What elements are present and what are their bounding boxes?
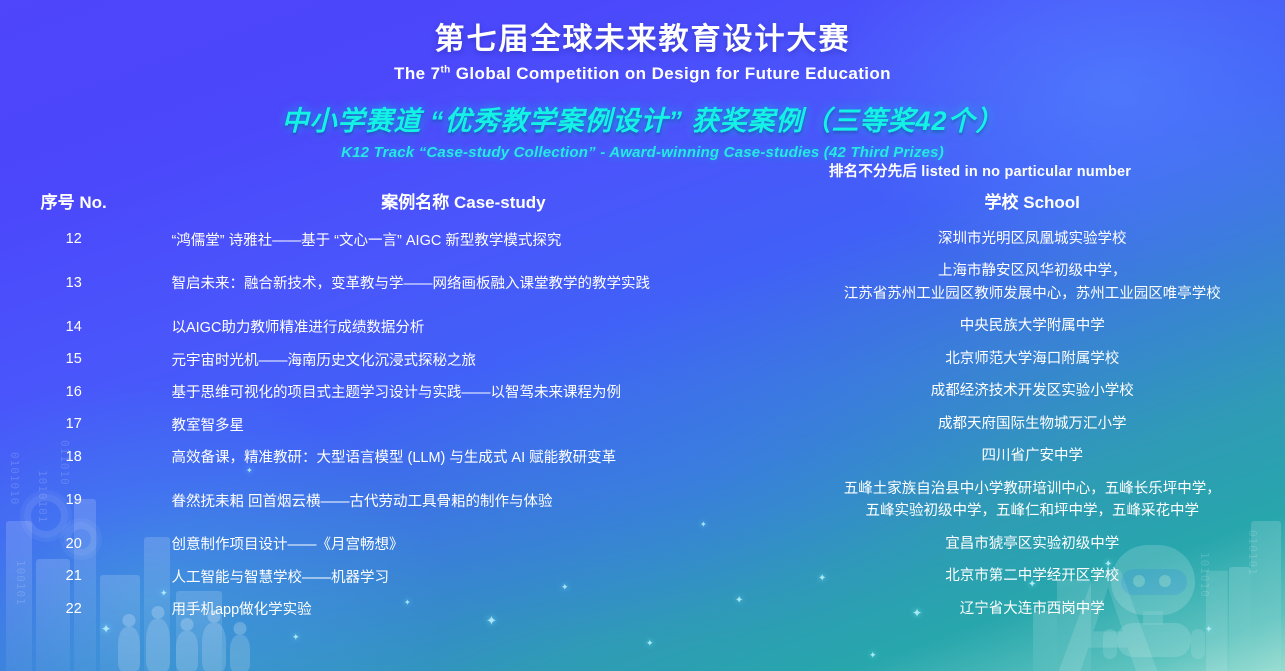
poster-canvas: 0101010 1010101 011010 100101 010101 101… — [0, 0, 1285, 671]
poster-header: 第七届全球未来教育设计大赛 The 7th Global Competition… — [0, 0, 1285, 161]
cell-no: 13 — [0, 255, 147, 310]
school-line: 上海市静安区风华初级中学， — [779, 260, 1285, 282]
school-line: 北京市第二中学经开区学校 — [779, 565, 1285, 587]
cell-school: 上海市静安区风华初级中学，江苏省苏州工业园区教师发展中心，苏州工业园区唯亭学校 — [779, 255, 1285, 310]
sparkle-icon: ✦ — [292, 632, 300, 642]
person-silhouette — [230, 635, 250, 671]
table-body: 12“鸿儒堂” 诗雅社——基于 “文心一言” AIGC 新型教学模式探究深圳市光… — [0, 223, 1285, 625]
page-title-en-before: The 7 — [394, 64, 440, 83]
person-silhouette — [118, 627, 140, 671]
cell-case-study: 创意制作项目设计——《月宫畅想》 — [147, 528, 779, 560]
cell-case-study: 以AIGC助力教师精准进行成绩数据分析 — [147, 310, 779, 342]
table-row: 16基于思维可视化的项目式主题学习设计与实践——以智驾未来课程为例成都经济技术开… — [0, 375, 1285, 407]
table-row: 18高效备课，精准教研：大型语言模型 (LLM) 与生成式 AI 赋能教研变革四… — [0, 440, 1285, 472]
school-line: 北京师范大学海口附属学校 — [779, 348, 1285, 370]
school-line: 江苏省苏州工业园区教师发展中心，苏州工业园区唯亭学校 — [779, 283, 1285, 305]
school-line: 辽宁省大连市西岗中学 — [779, 598, 1285, 620]
table-row: 21人工智能与智慧学校——机器学习北京市第二中学经开区学校 — [0, 560, 1285, 592]
person-silhouette — [202, 623, 226, 671]
cell-school: 中央民族大学附属中学 — [779, 310, 1285, 342]
cell-case-study: 高效备课，精准教研：大型语言模型 (LLM) 与生成式 AI 赋能教研变革 — [147, 440, 779, 472]
cell-case-study: 元宇宙时光机——海南历史文化沉浸式探秘之旅 — [147, 343, 779, 375]
cell-school: 宜昌市猇亭区实验初级中学 — [779, 528, 1285, 560]
page-title-en: The 7th Global Competition on Design for… — [0, 64, 1285, 84]
cell-school: 成都天府国际生物城万汇小学 — [779, 408, 1285, 440]
page-title-en-after: Global Competition on Design for Future … — [451, 64, 891, 83]
cell-no: 19 — [0, 473, 147, 528]
table-row: 22用手机app做化学实验辽宁省大连市西岗中学 — [0, 593, 1285, 625]
school-line: 成都天府国际生物城万汇小学 — [779, 413, 1285, 435]
cell-school: 北京市第二中学经开区学校 — [779, 560, 1285, 592]
cell-no: 20 — [0, 528, 147, 560]
cell-school: 五峰土家族自治县中小学教研培训中心，五峰长乐坪中学，五峰实验初级中学，五峰仁和坪… — [779, 473, 1285, 528]
school-line: 四川省广安中学 — [779, 445, 1285, 467]
table-row: 14以AIGC助力教师精准进行成绩数据分析中央民族大学附属中学 — [0, 310, 1285, 342]
table-row: 15元宇宙时光机——海南历史文化沉浸式探秘之旅北京师范大学海口附属学校 — [0, 343, 1285, 375]
table-row: 17教室智多星成都天府国际生物城万汇小学 — [0, 408, 1285, 440]
school-line: 中央民族大学附属中学 — [779, 315, 1285, 337]
cell-no: 17 — [0, 408, 147, 440]
cell-school: 成都经济技术开发区实验小学校 — [779, 375, 1285, 407]
cell-no: 15 — [0, 343, 147, 375]
school-line: 成都经济技术开发区实验小学校 — [779, 380, 1285, 402]
cell-no: 21 — [0, 560, 147, 592]
school-line: 五峰实验初级中学，五峰仁和坪中学，五峰采花中学 — [779, 500, 1285, 522]
cell-school: 辽宁省大连市西岗中学 — [779, 593, 1285, 625]
award-table: 序号 No. 案例名称 Case-study 学校 School 12“鸿儒堂”… — [0, 186, 1285, 625]
cell-school: 四川省广安中学 — [779, 440, 1285, 472]
sparkle-icon: ✦ — [646, 638, 654, 648]
cell-case-study: 智启未来：融合新技术，变革教与学——网络画板融入课堂教学的教学实践 — [147, 255, 779, 310]
cell-case-study: 教室智多星 — [147, 408, 779, 440]
cell-no: 16 — [0, 375, 147, 407]
table-row: 12“鸿儒堂” 诗雅社——基于 “文心一言” AIGC 新型教学模式探究深圳市光… — [0, 223, 1285, 255]
person-silhouette — [176, 631, 198, 671]
person-silhouette — [146, 619, 170, 671]
cell-no: 14 — [0, 310, 147, 342]
column-header-no: 序号 No. — [0, 186, 147, 223]
ordinal-suffix: th — [440, 64, 450, 75]
cell-case-study: 人工智能与智慧学校——机器学习 — [147, 560, 779, 592]
table-row: 19眷然抚耒耜 回首烟云横——古代劳动工具骨耜的制作与体验五峰土家族自治县中小学… — [0, 473, 1285, 528]
cell-no: 18 — [0, 440, 147, 472]
cell-no: 12 — [0, 223, 147, 255]
school-line: 五峰土家族自治县中小学教研培训中心，五峰长乐坪中学， — [779, 478, 1285, 500]
school-line: 深圳市光明区凤凰城实验学校 — [779, 228, 1285, 250]
cell-no: 22 — [0, 593, 147, 625]
sparkle-icon: ✦ — [101, 624, 111, 634]
subtitle-cn: 中小学赛道 “优秀教学案例设计” 获奖案例（三等奖42个） — [0, 99, 1285, 138]
sparkle-icon: ✦ — [1205, 624, 1213, 634]
table-row: 13智启未来：融合新技术，变革教与学——网络画板融入课堂教学的教学实践上海市静安… — [0, 255, 1285, 310]
cell-school: 深圳市光明区凤凰城实验学校 — [779, 223, 1285, 255]
page-title-cn: 第七届全球未来教育设计大赛 — [0, 14, 1285, 58]
cell-school: 北京师范大学海口附属学校 — [779, 343, 1285, 375]
cell-case-study: 基于思维可视化的项目式主题学习设计与实践——以智驾未来课程为例 — [147, 375, 779, 407]
cell-case-study: “鸿儒堂” 诗雅社——基于 “文心一言” AIGC 新型教学模式探究 — [147, 223, 779, 255]
column-header-case: 案例名称 Case-study — [147, 186, 779, 223]
ranking-note: 排名不分先后 listed in no particular number — [700, 160, 1260, 181]
school-line: 宜昌市猇亭区实验初级中学 — [779, 533, 1285, 555]
table-header-row: 序号 No. 案例名称 Case-study 学校 School — [0, 186, 1285, 223]
table-header: 序号 No. 案例名称 Case-study 学校 School — [0, 186, 1285, 223]
table-row: 20创意制作项目设计——《月宫畅想》宜昌市猇亭区实验初级中学 — [0, 528, 1285, 560]
subtitle-en: K12 Track “Case-study Collection” - Awar… — [0, 144, 1285, 161]
column-header-school: 学校 School — [779, 186, 1285, 223]
cell-case-study: 眷然抚耒耜 回首烟云横——古代劳动工具骨耜的制作与体验 — [147, 473, 779, 528]
cell-case-study: 用手机app做化学实验 — [147, 593, 779, 625]
sparkle-icon: ✦ — [869, 650, 877, 660]
